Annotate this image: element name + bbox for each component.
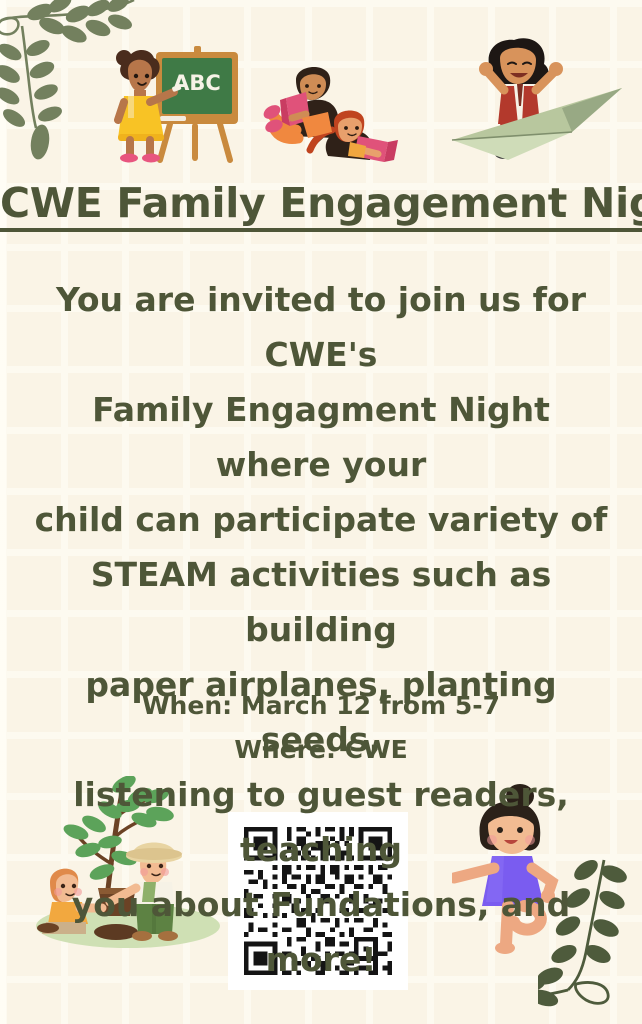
body-line: You are invited to join us for CWE's bbox=[34, 272, 608, 382]
two-children-reading-books-illustration bbox=[262, 58, 420, 163]
chalkboard-text: ABC bbox=[173, 71, 221, 95]
girl-writing-abc-on-chalkboard-illustration: ABC bbox=[98, 34, 276, 164]
event-details: When: March 12 from 5-7 Where: CWE bbox=[0, 684, 642, 772]
body-line: child can participate variety of bbox=[34, 492, 608, 547]
body-line: STEAM activities such as building bbox=[34, 547, 608, 657]
flyer-page: ABC bbox=[0, 0, 642, 1024]
event-where: Where: CWE bbox=[0, 728, 642, 772]
body-line: you about Fundations, and more! bbox=[34, 877, 608, 987]
page-title: CWE Family Engagement Night bbox=[0, 182, 642, 232]
body-line: listening to guest readers, teaching bbox=[34, 767, 608, 877]
body-line: Family Engagment Night where your bbox=[34, 382, 608, 492]
boy-riding-paper-airplane-illustration bbox=[444, 32, 630, 160]
body-text: You are invited to join us for CWE's Fam… bbox=[34, 272, 608, 987]
event-when: When: March 12 from 5-7 bbox=[0, 684, 642, 728]
title-container: CWE Family Engagement Night bbox=[0, 182, 642, 232]
